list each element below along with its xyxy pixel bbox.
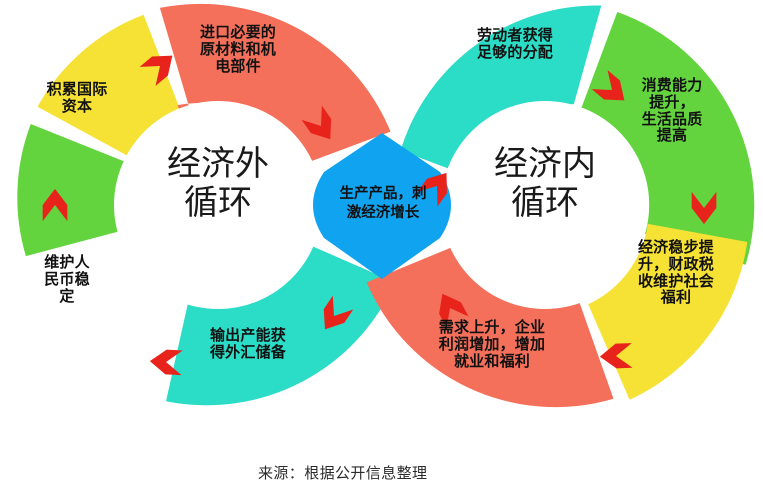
source-note: 来源：根据公开信息整理 xyxy=(258,462,427,483)
center-hexagon-label: 生产产品，刺 激经济增长 xyxy=(312,185,454,223)
diagram-canvas: 经济外 循环 积累国际 资本 进口必要的 原材料和机 电部件 输出产能获 得外汇… xyxy=(0,0,763,500)
left-ring-title: 经济外 循环 xyxy=(138,145,298,223)
cycle-diagram-svg xyxy=(0,0,763,500)
right-ring-title: 经济内 循环 xyxy=(465,145,625,223)
